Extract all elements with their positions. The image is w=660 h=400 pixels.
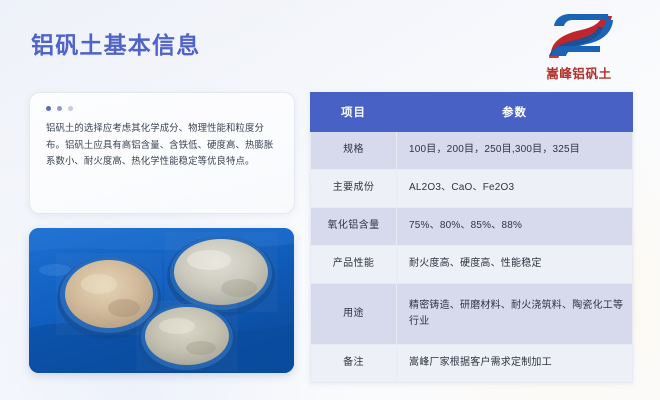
row-label-composition: 主要成份 <box>311 170 397 208</box>
column-header-parameter: 参数 <box>397 93 633 132</box>
row-label-applications: 用途 <box>311 284 397 345</box>
dot-3-icon <box>68 106 73 111</box>
sufeng-s-monogram-icon <box>544 10 614 62</box>
row-label-alumina-content: 氧化铝含量 <box>311 208 397 246</box>
row-value-applications: 精密铸造、研磨材料、耐火浇筑料、陶瓷化工等行业 <box>397 284 633 345</box>
dot-1-icon <box>46 106 51 111</box>
info-card-text: 铝矾土的选择应考虑其化学成分、物理性能和粒度分布。铝矾土应具有高铝含量、含铁低、… <box>46 120 278 170</box>
page-title: 铝矾土基本信息 <box>31 26 200 60</box>
bauxite-powder-image <box>29 228 294 373</box>
table-row: 氧化铝含量 75%、80%、85%、88% <box>311 208 633 246</box>
table-row: 主要成份 AL2O3、CaO、Fe2O3 <box>311 170 633 208</box>
row-value-remark: 嵩峰厂家根据客户需求定制加工 <box>397 345 633 383</box>
row-label-performance: 产品性能 <box>311 246 397 284</box>
row-value-spec: 100目，200目，250目,300目，325目 <box>397 132 633 170</box>
table-row: 备注 嵩峰厂家根据客户需求定制加工 <box>311 345 633 383</box>
slide-root: 铝矾土基本信息 嵩峰铝矾土 铝矾土的选择应考虑其化学成分、物理性能和粒度分布。铝… <box>0 0 660 400</box>
row-value-composition: AL2O3、CaO、Fe2O3 <box>397 170 633 208</box>
table-row: 用途 精密铸造、研磨材料、耐火浇筑料、陶瓷化工等行业 <box>311 284 633 345</box>
row-value-alumina-content: 75%、80%、85%、88% <box>397 208 633 246</box>
table-header-row: 项目 参数 <box>311 93 633 132</box>
column-header-item: 项目 <box>311 93 397 132</box>
spec-table: 项目 参数 规格 100目，200目，250目,300目，325目 主要成份 A… <box>310 92 633 383</box>
table-row: 规格 100目，200目，250目,300目，325目 <box>311 132 633 170</box>
table-row: 产品性能 耐火度高、硬度高、性能稳定 <box>311 246 633 284</box>
card-dots <box>46 106 278 111</box>
row-value-performance: 耐火度高、硬度高、性能稳定 <box>397 246 633 284</box>
row-label-remark: 备注 <box>311 345 397 383</box>
info-card: 铝矾土的选择应考虑其化学成分、物理性能和粒度分布。铝矾土应具有高铝含量、含铁低、… <box>29 92 295 214</box>
company-logo: 嵩峰铝矾土 <box>520 10 638 84</box>
product-photo <box>29 228 294 373</box>
dot-2-icon <box>57 106 62 111</box>
row-label-spec: 规格 <box>311 132 397 170</box>
logo-text: 嵩峰铝矾土 <box>520 63 638 82</box>
